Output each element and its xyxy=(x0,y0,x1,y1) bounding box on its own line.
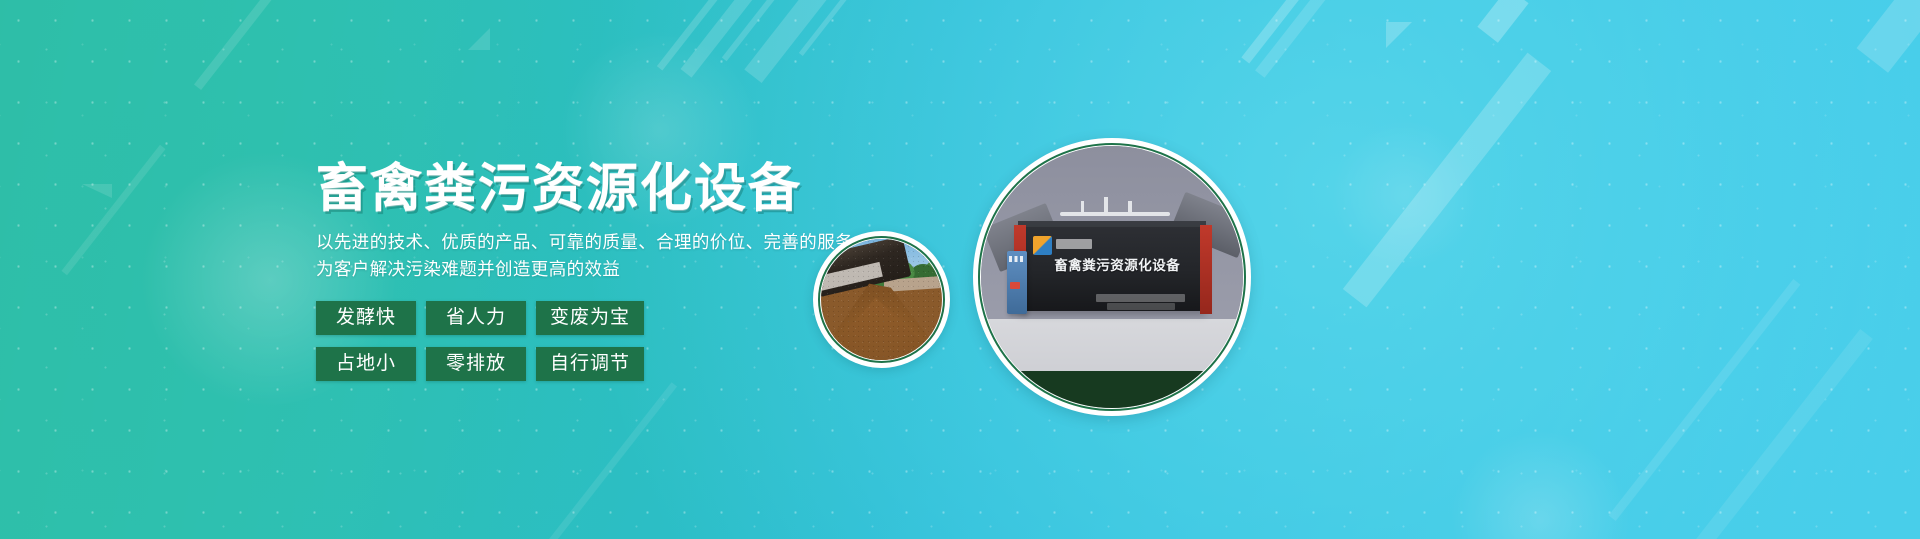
machine-body-subtext xyxy=(1096,294,1185,302)
decorative-streak xyxy=(657,0,730,70)
decorative-streak xyxy=(1477,0,1528,43)
decorative-triangle xyxy=(1386,22,1412,48)
hero-banner: 畜禽粪污资源化设备 以先进的技术、优质的产品、可靠的质量、合理的价位、完善的服务… xyxy=(0,0,1920,539)
page-title: 畜禽粪污资源化设备 xyxy=(316,163,936,215)
feature-badge-small-footprint[interactable]: 占地小 xyxy=(316,347,416,381)
compost-illustration xyxy=(821,239,942,360)
decorative-streak xyxy=(530,382,677,539)
brand-logo-text xyxy=(1056,239,1093,249)
machine-photo-circle[interactable]: 畜禽粪污资源化设备 xyxy=(973,138,1251,416)
machine-panel-button xyxy=(1010,282,1020,289)
decorative-streak xyxy=(1343,53,1551,308)
decorative-streak xyxy=(1663,329,1873,539)
machine-pipe-riser xyxy=(1081,201,1085,214)
compost-photo xyxy=(821,239,942,360)
decorative-streak xyxy=(1609,279,1801,521)
decorative-triangle xyxy=(82,184,112,198)
machine-body-label: 畜禽粪污资源化设备 xyxy=(1044,259,1191,274)
machine-photo: 畜禽粪污资源化设备 xyxy=(981,146,1243,408)
decorative-triangle xyxy=(468,28,490,50)
feature-badge-waste-to-treasure[interactable]: 变废为宝 xyxy=(536,301,644,335)
machine-body-subtext xyxy=(1107,303,1175,310)
feature-badge-fermentation-fast[interactable]: 发酵快 xyxy=(316,301,416,335)
machine-illustration: 畜禽粪污资源化设备 xyxy=(981,146,1243,408)
decorative-streak xyxy=(799,0,858,56)
machine-pipe-riser xyxy=(1128,201,1132,214)
feature-badge-zero-emission[interactable]: 零排放 xyxy=(426,347,526,381)
background-glow xyxy=(1330,120,1480,270)
brand-logo-icon xyxy=(1033,236,1051,254)
machine-red-end-right xyxy=(1200,225,1212,314)
decorative-streak xyxy=(61,145,165,275)
feature-badge-group: 发酵快 省人力 变废为宝 占地小 零排放 自行调节 xyxy=(316,301,656,381)
machine-pipe-riser xyxy=(1104,197,1108,214)
feature-badge-labor-saving[interactable]: 省人力 xyxy=(426,301,526,335)
decorative-streak xyxy=(1241,0,1304,64)
decorative-streak xyxy=(681,0,766,78)
decorative-streak xyxy=(1857,0,1920,73)
machine-foreground-grass xyxy=(981,371,1243,408)
decorative-streak xyxy=(744,0,841,83)
compost-grain-texture xyxy=(821,239,942,360)
background-speckle-texture xyxy=(0,0,1920,539)
decorative-streak xyxy=(722,0,788,61)
machine-panel-indicator-lights xyxy=(1009,256,1025,262)
background-glow xyxy=(1450,430,1630,539)
decorative-streak xyxy=(194,0,275,90)
decorative-streak xyxy=(1255,0,1357,78)
machine-pipe xyxy=(1060,212,1170,216)
feature-badge-self-adjusting[interactable]: 自行调节 xyxy=(536,347,644,381)
compost-photo-circle[interactable] xyxy=(813,231,950,368)
